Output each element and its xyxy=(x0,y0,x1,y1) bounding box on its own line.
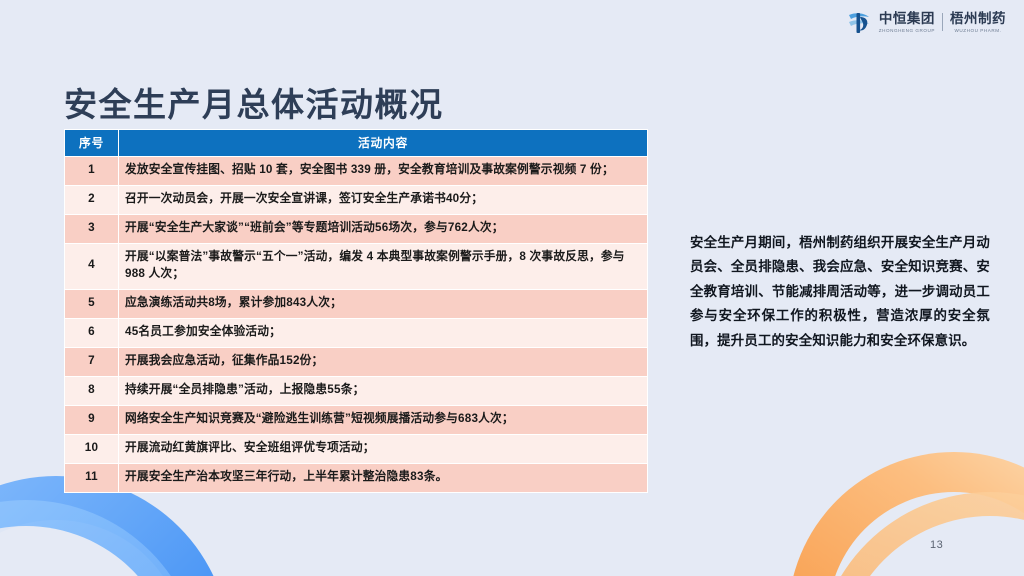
row-no: 1 xyxy=(65,157,119,186)
row-content: 应急演练活动共8场，累计参加843人次； xyxy=(119,289,648,318)
column-header-content: 活动内容 xyxy=(119,130,648,157)
row-content: 持续开展“全员排隐患”活动，上报隐患55条； xyxy=(119,376,648,405)
table-row: 11 开展安全生产治本攻坚三年行动，上半年累计整治隐患83条。 xyxy=(65,463,648,492)
logo-pharm-cn: 梧州制药 xyxy=(950,12,1006,26)
table-row: 5 应急演练活动共8场，累计参加843人次； xyxy=(65,289,648,318)
company-logo: 中恒集团 ZHONGHENG GROUP 梧州制药 WUZHOU PHARM. xyxy=(847,11,1006,35)
row-content: 开展我会应急活动，征集作品152份； xyxy=(119,347,648,376)
row-no: 6 xyxy=(65,318,119,347)
logo-block-pharm: 梧州制药 WUZHOU PHARM. xyxy=(950,12,1006,33)
slide-canvas: 中恒集团 ZHONGHENG GROUP 梧州制药 WUZHOU PHARM. … xyxy=(0,0,1024,576)
row-no: 11 xyxy=(65,463,119,492)
table-row: 6 45名员工参加安全体验活动； xyxy=(65,318,648,347)
zhongheng-logo-mark-icon xyxy=(847,11,873,35)
decorative-blue-ring-outer xyxy=(0,500,202,576)
row-no: 3 xyxy=(65,214,119,243)
row-no: 5 xyxy=(65,289,119,318)
row-no: 2 xyxy=(65,185,119,214)
row-content: 开展“安全生产大家谈”“班前会”等专题培训活动56场次，参与762人次； xyxy=(119,214,648,243)
table-row: 3 开展“安全生产大家谈”“班前会”等专题培训活动56场次，参与762人次； xyxy=(65,214,648,243)
activity-table: 序号 活动内容 1 发放安全宣传挂图、招贴 10 套，安全图书 339 册，安全… xyxy=(64,129,648,493)
logo-group-cn: 中恒集团 xyxy=(879,12,935,26)
row-content: 召开一次动员会，开展一次安全宣讲课，签订安全生产承诺书40分； xyxy=(119,185,648,214)
table-row: 9 网络安全生产知识竞赛及“避险逃生训练营”短视频展播活动参与683人次； xyxy=(65,405,648,434)
table-row: 7 开展我会应急活动，征集作品152份； xyxy=(65,347,648,376)
row-no: 9 xyxy=(65,405,119,434)
row-content: 开展流动红黄旗评比、安全班组评优专项活动； xyxy=(119,434,648,463)
column-header-no: 序号 xyxy=(65,130,119,157)
table-row: 10 开展流动红黄旗评比、安全班组评优专项活动； xyxy=(65,434,648,463)
row-content: 45名员工参加安全体验活动； xyxy=(119,318,648,347)
page-title: 安全生产月总体活动概况 xyxy=(64,85,444,125)
row-content: 开展安全生产治本攻坚三年行动，上半年累计整治隐患83条。 xyxy=(119,463,648,492)
logo-pharm-en: WUZHOU PHARM. xyxy=(955,28,1002,34)
row-no: 7 xyxy=(65,347,119,376)
row-content: 网络安全生产知识竞赛及“避险逃生训练营”短视频展播活动参与683人次； xyxy=(119,405,648,434)
decorative-orange-ring-outer xyxy=(816,492,1024,576)
summary-paragraph: 安全生产月期间，梧州制药组织开展安全生产月动员会、全员排隐患、我会应急、安全知识… xyxy=(690,231,990,353)
logo-group-en: ZHONGHENG GROUP xyxy=(879,28,935,34)
page-number: 13 xyxy=(930,539,943,551)
row-no: 10 xyxy=(65,434,119,463)
row-content: 开展“以案普法”事故警示“五个一”活动，编发 4 本典型事故案例警示手册，8 次… xyxy=(119,243,648,289)
activity-table-container: 序号 活动内容 1 发放安全宣传挂图、招贴 10 套，安全图书 339 册，安全… xyxy=(64,129,648,493)
row-no: 8 xyxy=(65,376,119,405)
table-row: 4 开展“以案普法”事故警示“五个一”活动，编发 4 本典型事故案例警示手册，8… xyxy=(65,243,648,289)
logo-wordmark: 中恒集团 ZHONGHENG GROUP 梧州制药 WUZHOU PHARM. xyxy=(879,12,1006,33)
table-header-row: 序号 活动内容 xyxy=(65,130,648,157)
logo-block-group: 中恒集团 ZHONGHENG GROUP xyxy=(879,12,935,33)
activity-table-body: 1 发放安全宣传挂图、招贴 10 套，安全图书 339 册，安全教育培训及事故案… xyxy=(65,157,648,493)
table-row: 1 发放安全宣传挂图、招贴 10 套，安全图书 339 册，安全教育培训及事故案… xyxy=(65,157,648,186)
logo-divider xyxy=(942,13,943,30)
table-row: 2 召开一次动员会，开展一次安全宣讲课，签订安全生产承诺书40分； xyxy=(65,185,648,214)
row-no: 4 xyxy=(65,243,119,289)
row-content: 发放安全宣传挂图、招贴 10 套，安全图书 339 册，安全教育培训及事故案例警… xyxy=(119,157,648,186)
table-row: 8 持续开展“全员排隐患”活动，上报隐患55条； xyxy=(65,376,648,405)
activity-table-head: 序号 活动内容 xyxy=(65,130,648,157)
decorative-orange-ring xyxy=(788,452,1024,576)
